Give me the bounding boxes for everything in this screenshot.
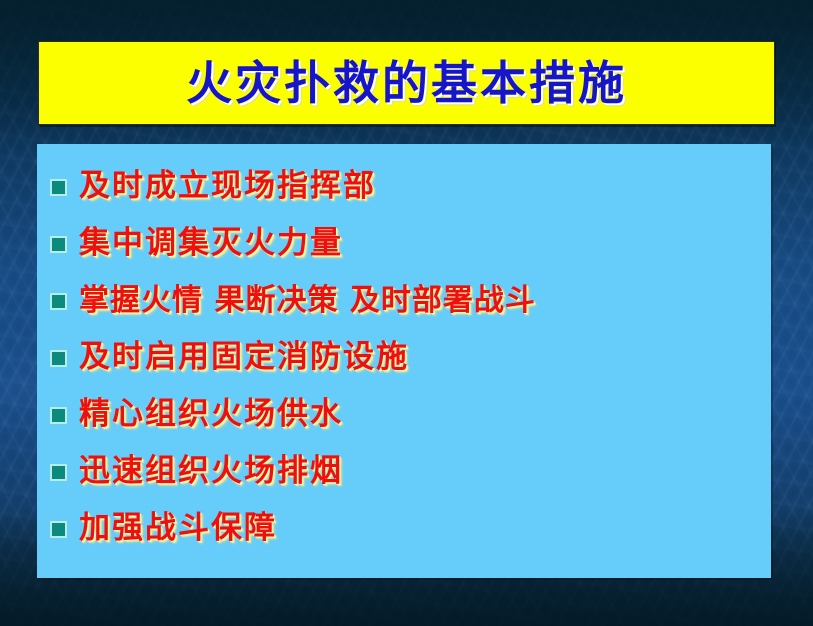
list-item: 迅速组织火场排烟 (37, 443, 771, 500)
list-item: 集中调集灭火力量 (37, 215, 771, 272)
content-panel: 及时成立现场指挥部 集中调集灭火力量 掌握火情 果断决策 及时部署战斗 及时启用… (37, 144, 771, 578)
bullet-text: 集中调集灭火力量 (79, 228, 343, 259)
list-item: 精心组织火场供水 (37, 386, 771, 443)
square-bullet-icon (50, 179, 67, 196)
bullet-text: 掌握火情 果断决策 及时部署战斗 (79, 286, 536, 316)
bullet-list: 及时成立现场指挥部 集中调集灭火力量 掌握火情 果断决策 及时部署战斗 及时启用… (37, 158, 771, 557)
slide-title: 火灾扑救的基本措施 (186, 60, 627, 106)
square-bullet-icon (50, 293, 67, 310)
bullet-text: 及时启用固定消防设施 (79, 342, 409, 373)
bullet-text: 迅速组织火场排烟 (79, 456, 343, 487)
bullet-text: 及时成立现场指挥部 (79, 171, 376, 202)
bullet-text: 精心组织火场供水 (79, 399, 343, 430)
title-banner: 火灾扑救的基本措施 (38, 41, 775, 125)
list-item: 及时启用固定消防设施 (37, 329, 771, 386)
list-item: 掌握火情 果断决策 及时部署战斗 (37, 272, 771, 329)
square-bullet-icon (50, 407, 67, 424)
list-item: 加强战斗保障 (37, 500, 771, 557)
bullet-text: 加强战斗保障 (79, 513, 277, 544)
presentation-slide: 火灾扑救的基本措施 及时成立现场指挥部 集中调集灭火力量 掌握火情 果断决策 及… (0, 0, 813, 626)
square-bullet-icon (50, 464, 67, 481)
square-bullet-icon (50, 521, 67, 538)
square-bullet-icon (50, 350, 67, 367)
square-bullet-icon (50, 236, 67, 253)
list-item: 及时成立现场指挥部 (37, 158, 771, 215)
